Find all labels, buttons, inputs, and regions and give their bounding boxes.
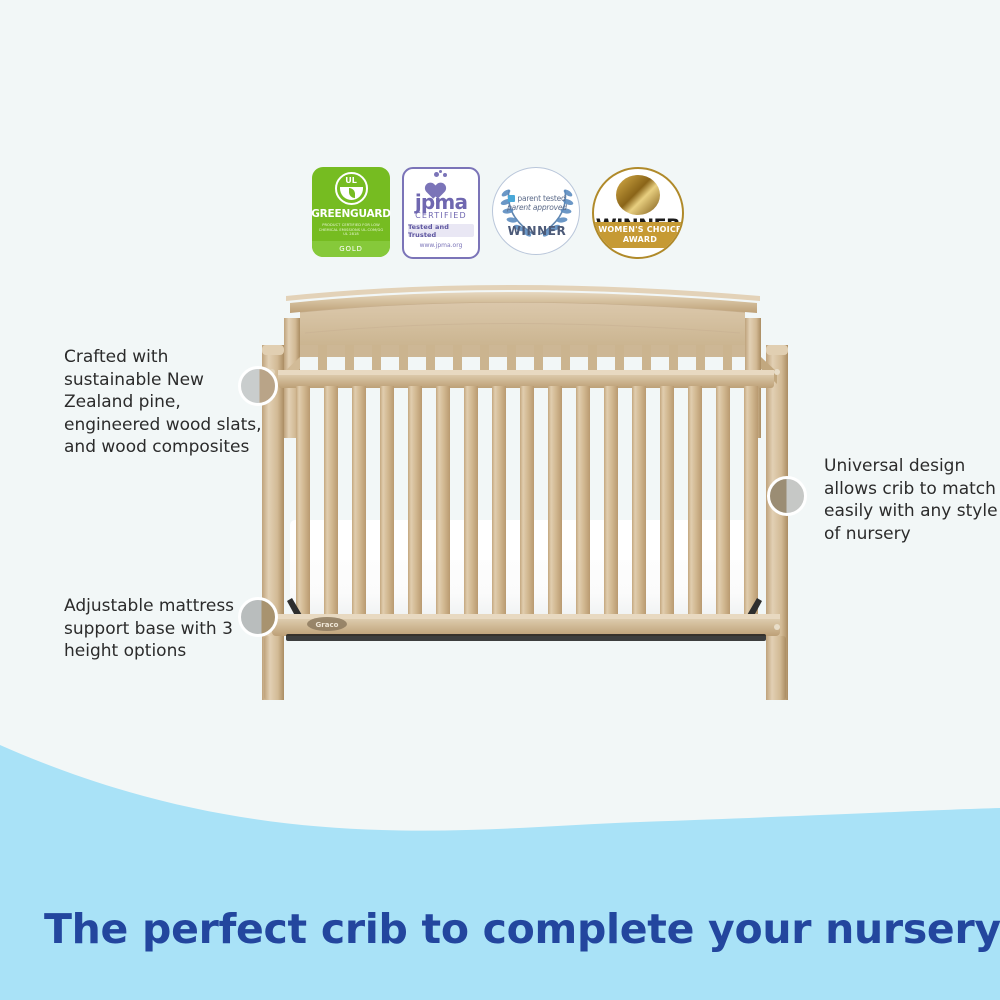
callout-mattress-support-text: Adjustable mattress support base with 3 …	[64, 595, 264, 663]
badge-greenguard-subtext: PRODUCT CERTIFIED FOR LOW CHEMICAL EMISS…	[316, 223, 386, 237]
callout-material-dot	[238, 366, 278, 406]
badge-greenguard-level: GOLD	[312, 241, 390, 257]
certification-badges: UL GREENGUARD PRODUCT CERTIFIED FOR LOW …	[312, 167, 718, 265]
badge-ptpa: parent tested parent approved WINNER	[492, 167, 580, 255]
ul-mark-icon: UL	[335, 172, 368, 205]
badge-jpma: jpma CERTIFIED Tested and Trusted www.jp…	[402, 167, 480, 259]
callout-material-text: Crafted with sustainable New Zealand pin…	[64, 346, 264, 459]
badge-ptpa-award: WINNER	[493, 224, 581, 238]
product-infographic: Graco UL GREENGUARD PRODUCT CERTIFIED FO…	[0, 0, 1000, 1000]
laurel-wreath-icon	[493, 168, 581, 256]
callout-mattress-support-dot	[238, 597, 278, 637]
leaf-icon	[349, 188, 355, 198]
badge-jpma-title: jpma	[415, 193, 467, 212]
badge-womens-choice: WINNER WOMEN'S CHOICE AWARD	[592, 167, 684, 259]
bottom-wave-band	[0, 700, 1000, 1000]
badge-ptpa-logo: parent tested parent approved	[493, 194, 581, 212]
heart-icon	[430, 172, 452, 192]
medal-icon	[616, 175, 660, 215]
svg-text:Graco: Graco	[316, 621, 339, 629]
badge-greenguard: UL GREENGUARD PRODUCT CERTIFIED FOR LOW …	[312, 167, 390, 257]
callout-universal-design-text: Universal design allows crib to match ea…	[824, 455, 1000, 545]
callout-universal-design-dot	[767, 476, 807, 516]
badge-jpma-tagline-wrap: Tested and Trusted	[408, 224, 474, 237]
badge-jpma-certified: CERTIFIED	[415, 211, 467, 220]
badge-greenguard-title: GREENGUARD	[311, 208, 391, 220]
badge-wca-band: WOMEN'S CHOICE AWARD	[594, 222, 684, 248]
badge-jpma-url: www.jpma.org	[420, 242, 463, 249]
page-headline: The perfect crib to complete your nurser…	[44, 905, 964, 953]
